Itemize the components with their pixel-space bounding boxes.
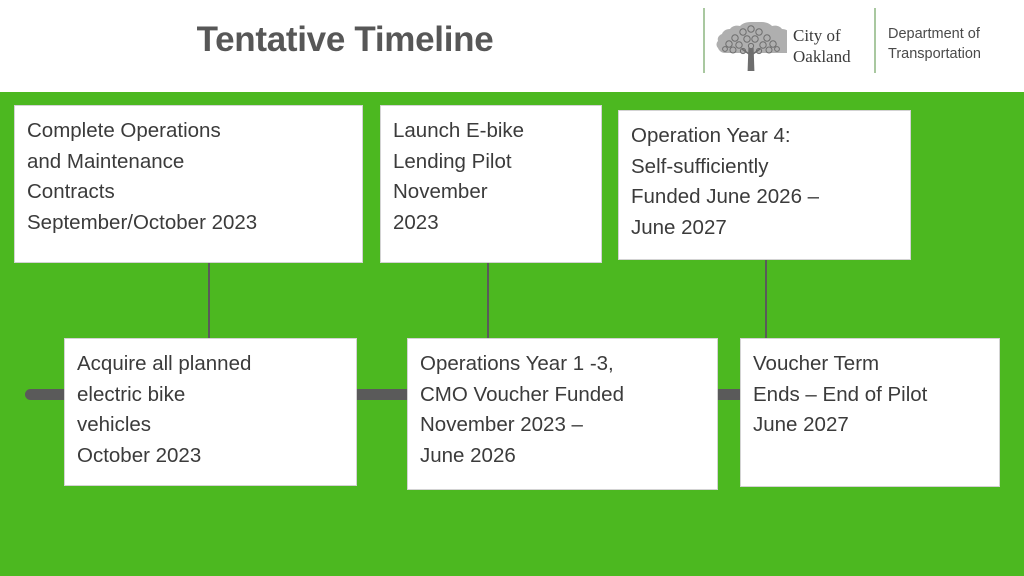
slide: Tentative Timeline [0,0,1024,576]
milestone-text-line: November 2023 – [420,410,705,441]
milestone-text-line: and Maintenance [27,147,350,178]
milestone-date: October 2023 [77,441,344,472]
milestone-card-voucher-term-ends[interactable]: Voucher Term Ends – End of Pilot June 20… [740,338,1000,487]
milestone-text-line: Operation Year 4: [631,121,898,152]
city-line-2: Oakland [793,46,851,67]
milestone-text-line: June 2027 [753,410,987,441]
milestone-date: November [393,177,589,208]
city-of-oakland-logo: City of Oakland [715,14,851,78]
milestone-text-line: Lending Pilot [393,147,589,178]
oak-tree-icon [715,18,787,74]
city-of-oakland-wordmark: City of Oakland [793,25,851,67]
milestone-card-acquire-electric-bikes[interactable]: Acquire all planned electric bike vehicl… [64,338,357,486]
milestone-text-line: Funded June 2026 – [631,182,898,213]
milestone-text-line: June 2026 [420,441,705,472]
milestone-text-line: Acquire all planned [77,349,344,380]
dept-line-1: Department of [888,24,981,44]
milestone-text-line: vehicles [77,410,344,441]
slide-header: Tentative Timeline [0,0,1024,92]
header-divider-right [874,8,876,73]
milestone-text-line: CMO Voucher Funded [420,380,705,411]
milestone-card-complete-operations-contracts[interactable]: Complete Operations and Maintenance Cont… [14,105,363,263]
milestone-text-line: Ends – End of Pilot [753,380,987,411]
milestone-text-line: Contracts [27,177,350,208]
milestone-card-operation-year-4[interactable]: Operation Year 4: Self-sufficiently Fund… [618,110,911,260]
milestone-text-line: Self-sufficiently [631,152,898,183]
department-of-transportation-wordmark: Department of Transportation [888,24,981,64]
page-title: Tentative Timeline [0,20,690,60]
milestone-date: September/October 2023 [27,208,350,239]
milestone-text-line: Operations Year 1 -3, [420,349,705,380]
milestone-card-launch-ebike-lending-pilot[interactable]: Launch E-bike Lending Pilot November 202… [380,105,602,263]
dept-line-2: Transportation [888,44,981,64]
city-line-1: City of [793,25,851,46]
milestone-text-line: Voucher Term [753,349,987,380]
milestone-text-line: June 2027 [631,213,898,244]
header-divider-left [703,8,705,73]
milestone-text-line: Complete Operations [27,116,350,147]
milestone-date: 2023 [393,208,589,239]
milestone-text-line: electric bike [77,380,344,411]
milestone-card-operations-year-1-3[interactable]: Operations Year 1 -3, CMO Voucher Funded… [407,338,718,490]
milestone-text-line: Launch E-bike [393,116,589,147]
